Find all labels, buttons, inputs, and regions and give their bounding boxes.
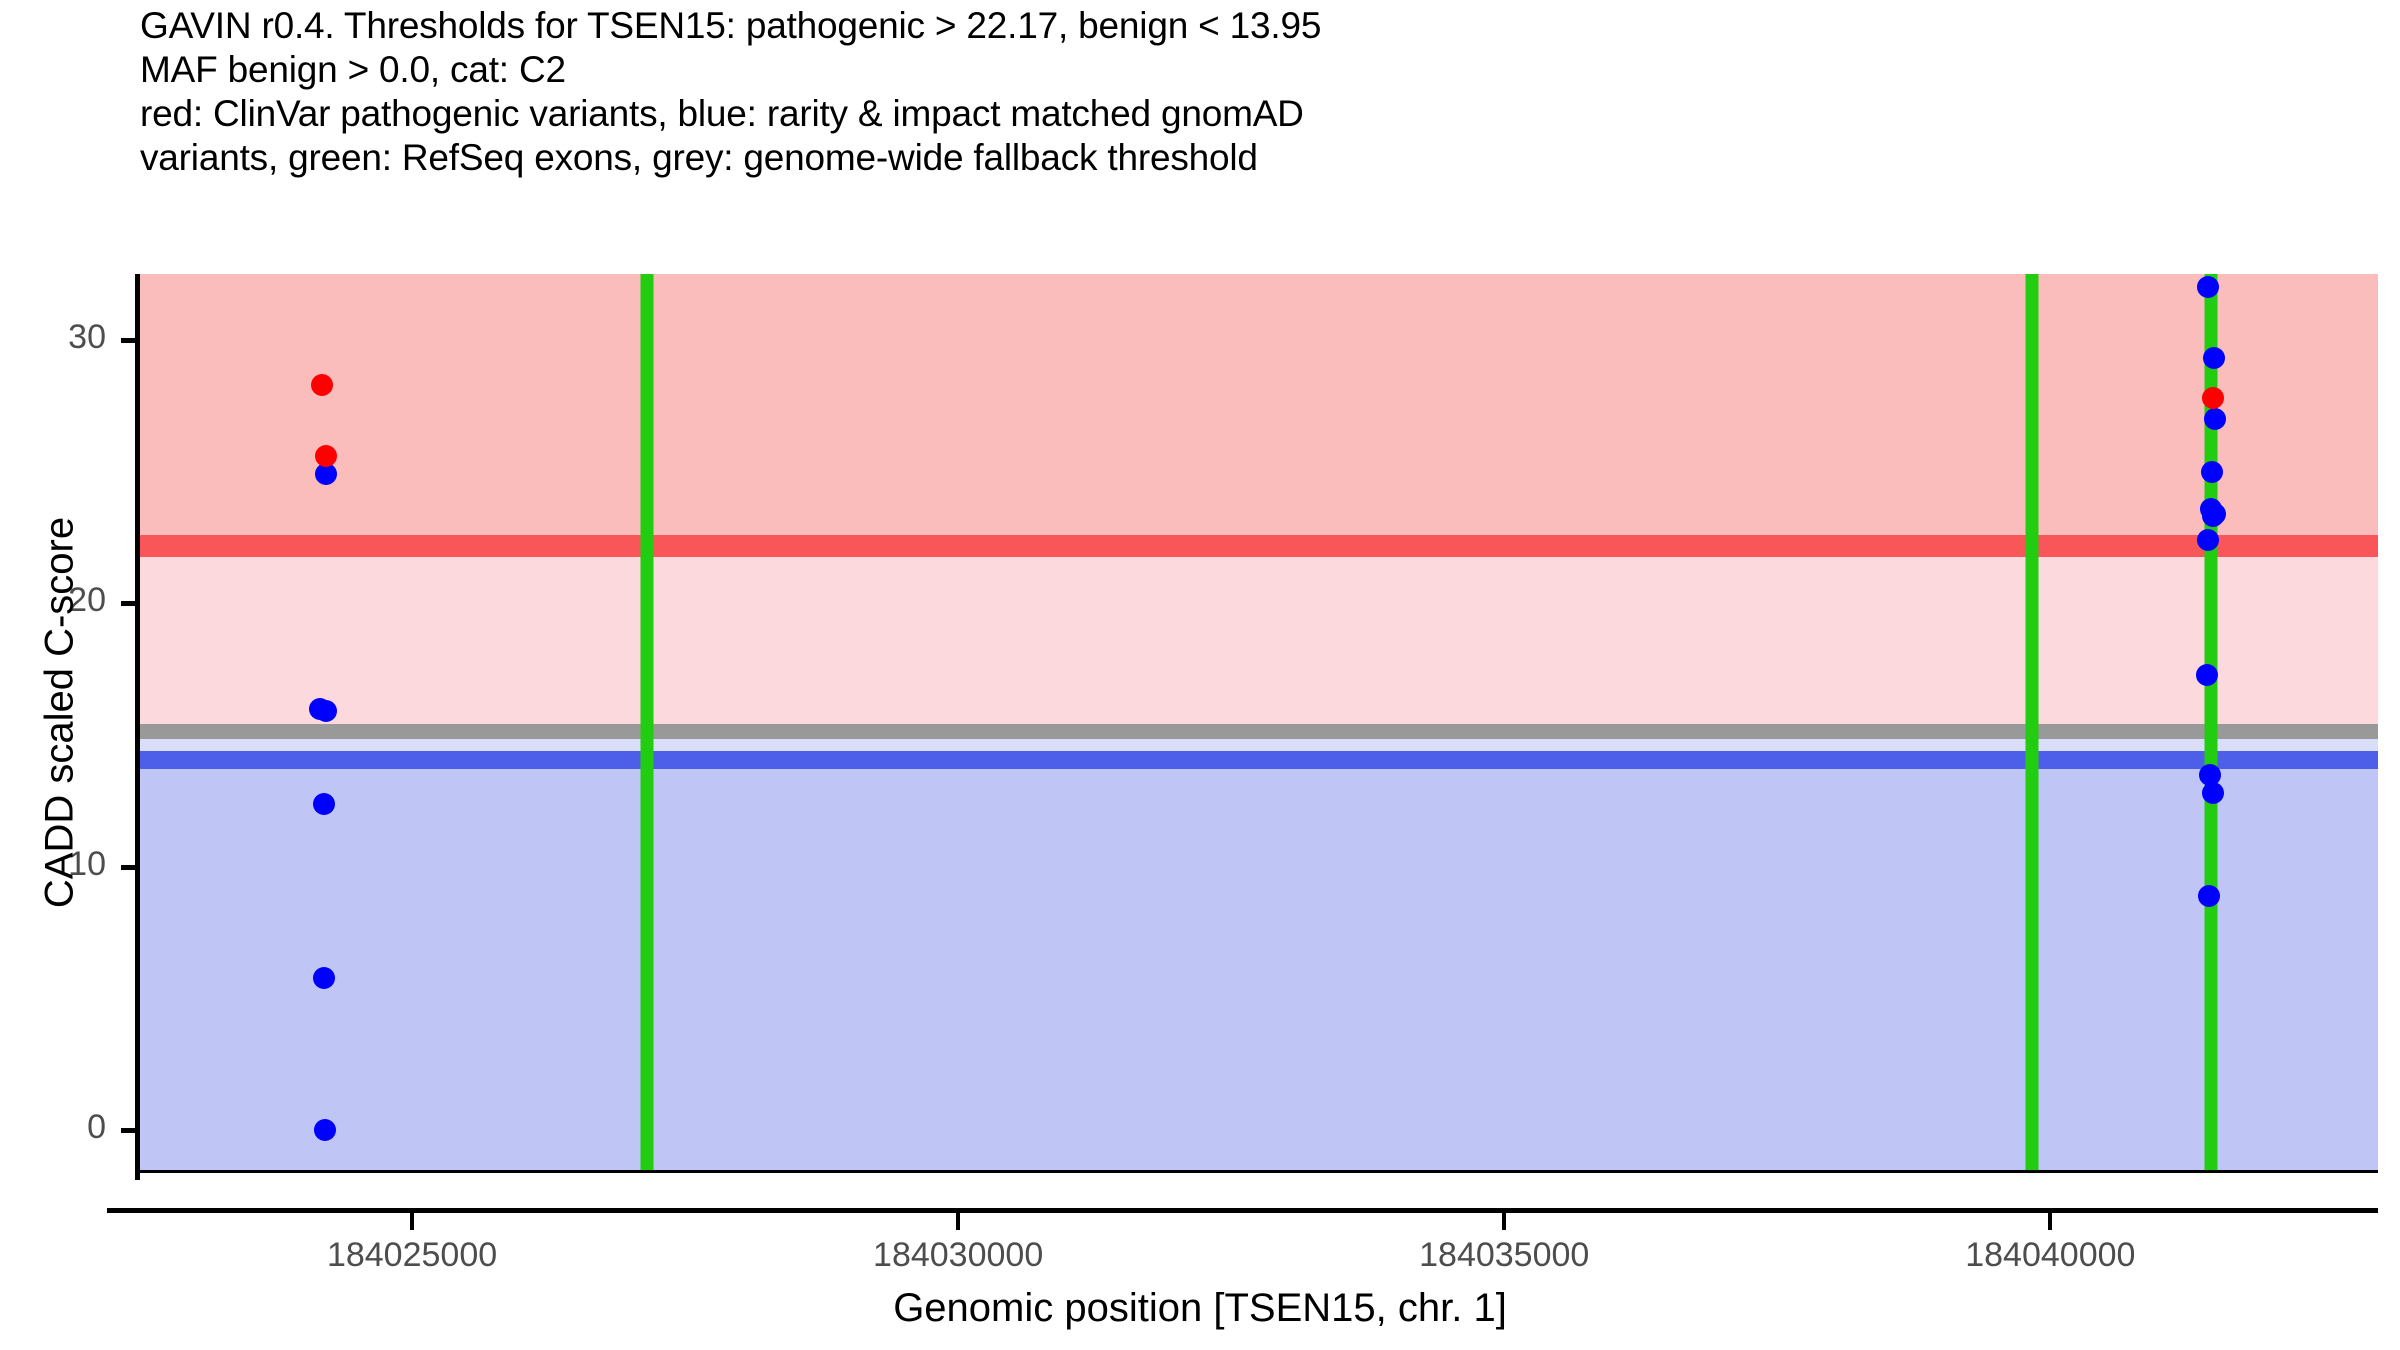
- band-gap-lavender: [139, 739, 2378, 751]
- title-line-3: red: ClinVar pathogenic variants, blue: …: [140, 92, 2340, 136]
- band-benign-line: [139, 751, 2378, 769]
- title-line-2: MAF benign > 0.0, cat: C2: [140, 48, 2340, 92]
- plot-root: GAVIN r0.4. Thresholds for TSEN15: patho…: [0, 0, 2400, 1350]
- data-point: [2198, 885, 2220, 907]
- x-tick-184025000: [410, 1213, 414, 1230]
- data-point: [2202, 505, 2224, 527]
- data-point: [2202, 782, 2224, 804]
- exon-marker-exon-2: [2025, 274, 2038, 1170]
- data-point: [315, 700, 337, 722]
- y-tick-30: [121, 338, 139, 343]
- y-axis-line: [135, 274, 140, 1180]
- x-tick-184035000: [1502, 1213, 1506, 1230]
- x-axis-line: [107, 1208, 2378, 1213]
- data-point: [2196, 664, 2218, 686]
- data-point: [2201, 461, 2223, 483]
- data-point: [315, 445, 337, 467]
- y-tick-0: [121, 1128, 139, 1133]
- data-point: [311, 374, 333, 396]
- x-tick-184040000: [2048, 1213, 2052, 1230]
- x-tick-label-184025000: 184025000: [327, 1236, 497, 1275]
- plot-title-block: GAVIN r0.4. Thresholds for TSEN15: patho…: [140, 4, 2340, 180]
- x-tick-label-184040000: 184040000: [1965, 1236, 2135, 1275]
- band-vous-zone: [139, 557, 2378, 724]
- x-tick-label-184030000: 184030000: [873, 1236, 1043, 1275]
- title-line-4: variants, green: RefSeq exons, grey: gen…: [140, 136, 2340, 180]
- band-benign-zone: [139, 769, 2378, 1170]
- data-point: [2197, 529, 2219, 551]
- y-tick-label-0: 0: [87, 1108, 106, 1147]
- x-tick-label-184035000: 184035000: [1419, 1236, 1589, 1275]
- data-point: [2203, 347, 2225, 369]
- data-point: [314, 1119, 336, 1141]
- x-tick-184030000: [956, 1213, 960, 1230]
- y-tick-10: [121, 865, 139, 870]
- y-tick-20: [121, 601, 139, 606]
- x-axis-title: Genomic position [TSEN15, chr. 1]: [0, 1286, 2400, 1331]
- title-line-1: GAVIN r0.4. Thresholds for TSEN15: patho…: [140, 4, 2340, 48]
- data-point: [2202, 387, 2224, 409]
- plot-panel: [139, 274, 2378, 1170]
- data-point: [2204, 408, 2226, 430]
- data-point: [2197, 276, 2219, 298]
- band-fallback-grey-line: [139, 724, 2378, 739]
- data-point: [313, 793, 335, 815]
- exon-marker-exon-1: [640, 274, 653, 1170]
- y-axis-title: CADD scaled C-score: [38, 313, 83, 1113]
- data-point: [313, 967, 335, 989]
- band-pathogenic-zone: [139, 274, 2378, 546]
- band-pathogenic-line: [139, 535, 2378, 557]
